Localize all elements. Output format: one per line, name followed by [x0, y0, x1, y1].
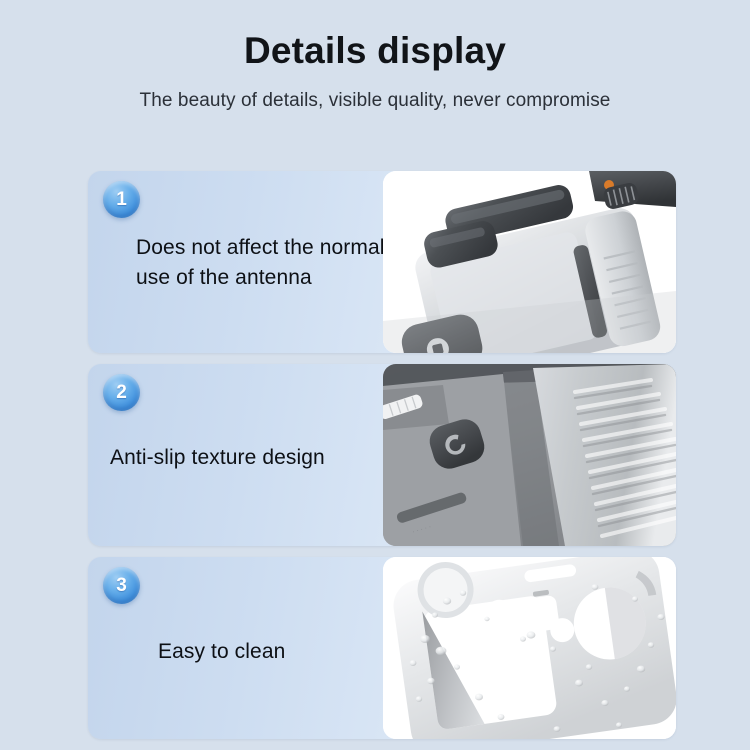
- feature-card-list: 1 Does not affect the normal use of the …: [88, 171, 676, 739]
- feature-card-3: 3 Easy to clean: [88, 557, 676, 739]
- anti-slip-ribbed-texture-closeup: · · · · ·: [383, 364, 676, 546]
- silicone-case-water-droplets: [383, 557, 676, 739]
- feature-description-3: Easy to clean: [158, 637, 418, 667]
- remote-controller-antenna-closeup: [383, 171, 676, 353]
- step-number-label: 3: [116, 576, 127, 595]
- page-title: Details display: [0, 30, 750, 73]
- page-subtitle: The beauty of details, visible quality, …: [0, 90, 750, 112]
- page-header: Details display The beauty of details, v…: [0, 0, 750, 112]
- step-number-label: 2: [116, 383, 127, 402]
- feature-card-2: 2 Anti-slip texture design: [88, 364, 676, 546]
- step-number-label: 1: [116, 190, 127, 209]
- step-number-badge-3: 3: [103, 567, 140, 604]
- step-number-badge-2: 2: [103, 374, 140, 411]
- step-number-badge-1: 1: [103, 181, 140, 218]
- feature-description-1: Does not affect the normal use of the an…: [136, 233, 396, 293]
- feature-description-2: Anti-slip texture design: [110, 443, 400, 473]
- feature-card-1: 1 Does not affect the normal use of the …: [88, 171, 676, 353]
